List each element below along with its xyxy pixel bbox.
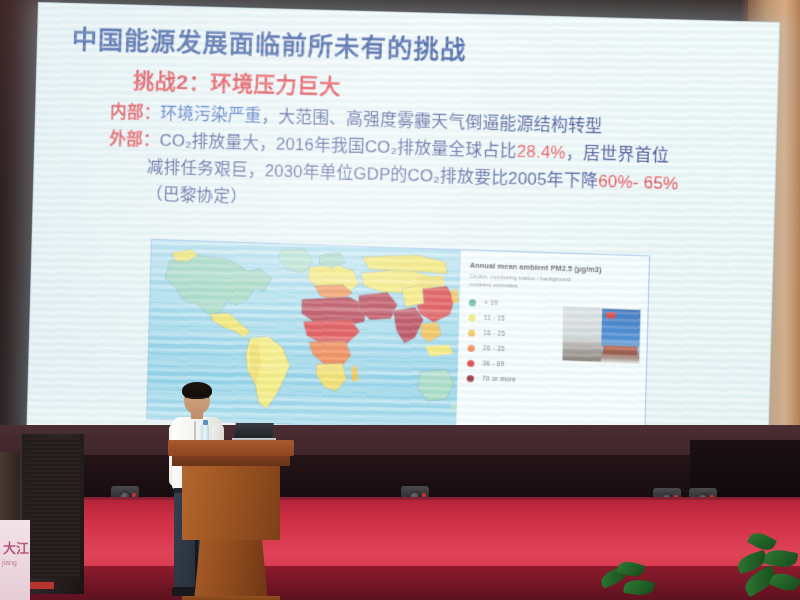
legend-label: 70 or more (482, 376, 516, 384)
legend-label: < 10 (484, 300, 498, 308)
legend-label: 11 - 15 (484, 315, 506, 323)
side-banner: 大江 jiang (0, 520, 30, 600)
smog-comparison-photo (562, 306, 642, 364)
bullet-seg-pollution: 环境污染严重 (160, 105, 262, 126)
legend-label: 36 - 69 (482, 360, 504, 368)
photograph-scene: 中国能源发展面临前所未有的挑战 挑战2：环境压力巨大 内部：环境污染严重，大范围… (0, 0, 800, 600)
legend-swatch-icon (467, 345, 474, 352)
podium-base (182, 596, 280, 600)
photo-clear-day (601, 309, 641, 363)
bullet-seg-first-world: ，居世界首位 (565, 144, 669, 165)
bullet-seg-share-text: ，2016年我国CO₂排放量全球占比 (259, 135, 517, 161)
podium-top-trim (172, 456, 290, 466)
legend-swatch-icon (468, 314, 475, 321)
region-indonesia (424, 344, 453, 357)
bullet-label-external: 外部： (109, 130, 160, 150)
region-southeast-asia (421, 322, 442, 343)
legend-swatch-icon (468, 330, 475, 337)
legend-label: 26 - 35 (483, 345, 505, 353)
banner-latin-text: jiang (2, 560, 17, 567)
speaker-grille (26, 438, 80, 578)
flag-icon (606, 312, 615, 318)
laptop-screen (234, 423, 274, 439)
stage-front-face (0, 566, 800, 600)
legend-swatch-icon (469, 299, 476, 306)
podium (176, 440, 286, 600)
speaker-brand-badge (30, 582, 54, 589)
legend-title: Annual mean ambient PM2.5 (µg/m3) (470, 261, 643, 276)
bullet-seg-paris-agreement: （巴黎协定） (146, 186, 247, 207)
podium-top (168, 440, 294, 456)
potted-plant (600, 560, 656, 600)
legend-swatch-icon (467, 360, 474, 367)
legend-label: 16 - 25 (483, 330, 505, 338)
bullet-label-internal: 内部： (110, 103, 161, 123)
region-central-africa (308, 340, 351, 368)
podium-body (182, 466, 280, 540)
glasses-icon (185, 397, 209, 403)
region-greenland (278, 248, 313, 273)
photo-smoggy-day (563, 307, 603, 361)
stat-reduction-range: 60%- 65% (598, 173, 679, 194)
map-legend: Annual mean ambient PM2.5 (µg/m3) Circle… (456, 250, 649, 437)
leaf (623, 578, 655, 597)
region-china-west (401, 285, 424, 308)
legend-subtitle: Circles: monitoring station / background… (469, 274, 590, 293)
podium-column (194, 540, 268, 600)
bullet-seg-co2: CO₂排放量大 (159, 132, 259, 153)
stat-share-percent: 28.4% (516, 143, 566, 163)
banner-chinese-text: 大江 (3, 538, 29, 557)
legend-swatch-icon (467, 375, 474, 382)
potted-plant (735, 528, 800, 600)
